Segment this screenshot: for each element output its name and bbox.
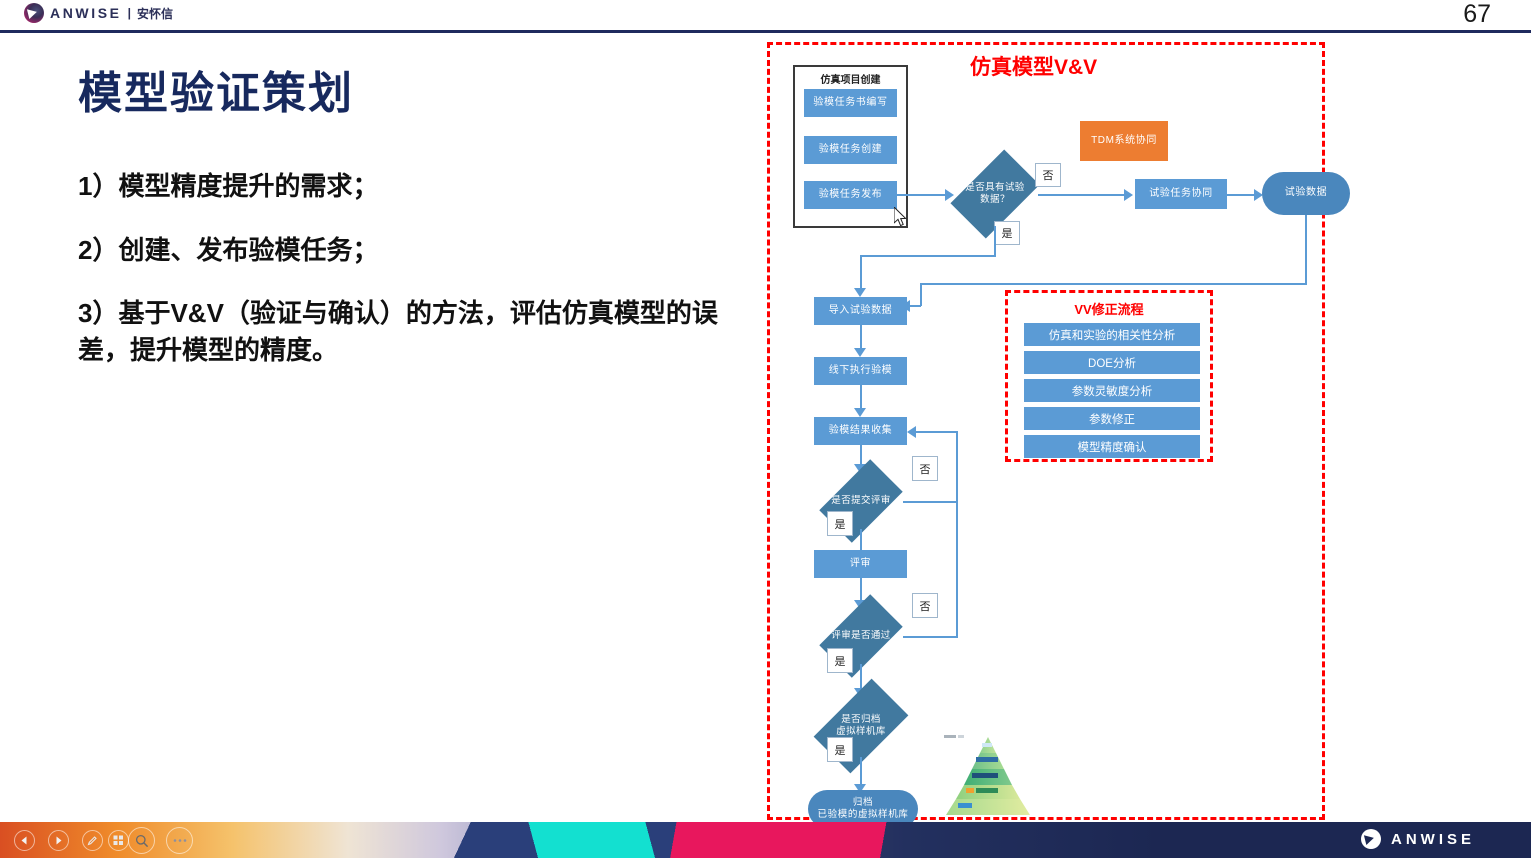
- vv-correction-item[interactable]: 仿真和实验的相关性分析: [1024, 323, 1200, 346]
- node-import-test-data[interactable]: 导入试验数据: [814, 297, 907, 325]
- decision-has-test-data-label: 是否具有试验数据？: [950, 162, 1040, 226]
- decision-submit-review[interactable]: 是否提交评审: [817, 473, 905, 529]
- node-verify-task-create[interactable]: 验模任务创建: [804, 136, 897, 164]
- zoom-icon[interactable]: [128, 827, 155, 854]
- list-item: 1）模型精度提升的需求；: [78, 168, 768, 206]
- project-creation-group-label: 仿真项目创建: [793, 71, 908, 86]
- vv-correction-panel: VV修正流程 仿真和实验的相关性分析 DOE分析 参数灵敏度分析 参数修正 模型…: [1005, 290, 1213, 462]
- vv-correction-item[interactable]: 参数修正: [1024, 407, 1200, 430]
- arrow-icon: [907, 426, 916, 438]
- next-slide-icon[interactable]: [48, 830, 69, 851]
- connector-collab-to-testdata: [1227, 194, 1257, 196]
- anwise-logo-icon: [24, 3, 44, 23]
- vv-correction-title: VV修正流程: [1008, 299, 1210, 318]
- connector-submit-no-back: [916, 431, 958, 433]
- slideshow-footer: ANWISE: [0, 822, 1531, 858]
- list-item: 2）创建、发布验模任务；: [78, 232, 768, 270]
- presentation-slide: ANWISE | 安怀信 67 模型验证策划 1）模型精度提升的需求； 2）创建…: [0, 0, 1531, 858]
- arrow-icon: [1124, 189, 1133, 201]
- connector-decision-no: [1038, 194, 1128, 196]
- connector-review-no-right: [903, 636, 958, 638]
- diagram-title-en: V&V: [1054, 56, 1097, 79]
- decision-review-pass[interactable]: 评审是否通过: [817, 608, 905, 664]
- decision-has-test-data[interactable]: 是否具有试验数据？: [950, 162, 1040, 226]
- logo-separator: |: [128, 6, 131, 20]
- logo-text: ANWISE: [50, 5, 122, 21]
- slide-header: ANWISE | 安怀信 67: [0, 0, 1531, 30]
- bullet-list: 1）模型精度提升的需求； 2）创建、发布验模任务； 3）基于V&V（验证与确认）…: [78, 168, 768, 395]
- page-number: 67: [1463, 0, 1491, 29]
- connector-archive-down: [860, 757, 862, 787]
- node-tdm-system[interactable]: TDM系统协同: [1080, 121, 1168, 161]
- decision-review-pass-label: 评审是否通过: [817, 608, 905, 664]
- node-test-task-collab[interactable]: 试验任务协同: [1135, 179, 1227, 209]
- connector-review-no-up: [956, 431, 958, 637]
- connector-yes-left: [860, 255, 996, 257]
- diagram-title: 仿真模型V&V: [970, 51, 1097, 81]
- anwise-logo-icon: [1361, 829, 1381, 849]
- previous-slide-icon[interactable]: [14, 830, 35, 851]
- page-title: 模型验证策划: [78, 57, 354, 121]
- more-options-icon[interactable]: [166, 827, 193, 854]
- vv-correction-item[interactable]: 模型精度确认: [1024, 435, 1200, 458]
- connector-yes-down: [994, 226, 996, 256]
- connector-testdata-down: [1305, 215, 1307, 284]
- pyramid-diagram-icon: [942, 735, 1034, 817]
- connector-submit-no-right: [903, 501, 958, 503]
- footer-logo-text: ANWISE: [1391, 831, 1475, 848]
- list-item: 3）基于V&V（验证与确认）的方法，评估仿真模型的误差，提升模型的精度。: [78, 295, 768, 369]
- diagram-title-cn: 仿真模型: [970, 56, 1054, 79]
- node-test-data[interactable]: 试验数据: [1262, 172, 1350, 215]
- decision-submit-review-label: 是否提交评审: [817, 473, 905, 529]
- node-review[interactable]: 评审: [814, 550, 907, 578]
- header-divider: [0, 30, 1531, 33]
- connector-publish-to-decision: [897, 194, 947, 196]
- pen-icon[interactable]: [82, 830, 103, 851]
- decision-archive-label: 是否归档虚拟样机库: [813, 695, 909, 757]
- connector-testdata-into-import: [920, 283, 922, 306]
- vv-diagram-panel: 仿真模型V&V 仿真项目创建 验模任务书编写 验模任务创建 验模任务发布 是否具…: [767, 42, 1325, 820]
- node-archive-result-label: 归档已验模的虚拟样机库: [818, 797, 909, 821]
- arrow-icon: [854, 288, 866, 297]
- decision-archive[interactable]: 是否归档虚拟样机库: [813, 695, 909, 757]
- arrow-icon: [854, 408, 866, 417]
- all-slides-icon[interactable]: [108, 830, 129, 851]
- node-verify-task-doc[interactable]: 验模任务书编写: [804, 89, 897, 117]
- logo-chinese-name: 安怀信: [137, 5, 173, 22]
- footer-anwise-logo: ANWISE: [1361, 829, 1475, 849]
- branch-label-no-2: 否: [912, 456, 938, 481]
- branch-label-no-3: 否: [912, 593, 938, 618]
- anwise-logo: ANWISE | 安怀信: [24, 3, 173, 23]
- node-verify-task-publish[interactable]: 验模任务发布: [804, 181, 897, 209]
- connector-testdata-left: [920, 283, 1307, 285]
- node-collect-results[interactable]: 验模结果收集: [814, 417, 907, 445]
- mouse-cursor-icon: [894, 207, 908, 227]
- connector-yes-to-import: [860, 255, 862, 291]
- vv-correction-item[interactable]: 参数灵敏度分析: [1024, 379, 1200, 402]
- arrow-icon: [854, 348, 866, 357]
- connector-testdata-arrow-stub: [909, 305, 921, 307]
- node-offline-verify[interactable]: 线下执行验模: [814, 357, 907, 385]
- vv-correction-item[interactable]: DOE分析: [1024, 351, 1200, 374]
